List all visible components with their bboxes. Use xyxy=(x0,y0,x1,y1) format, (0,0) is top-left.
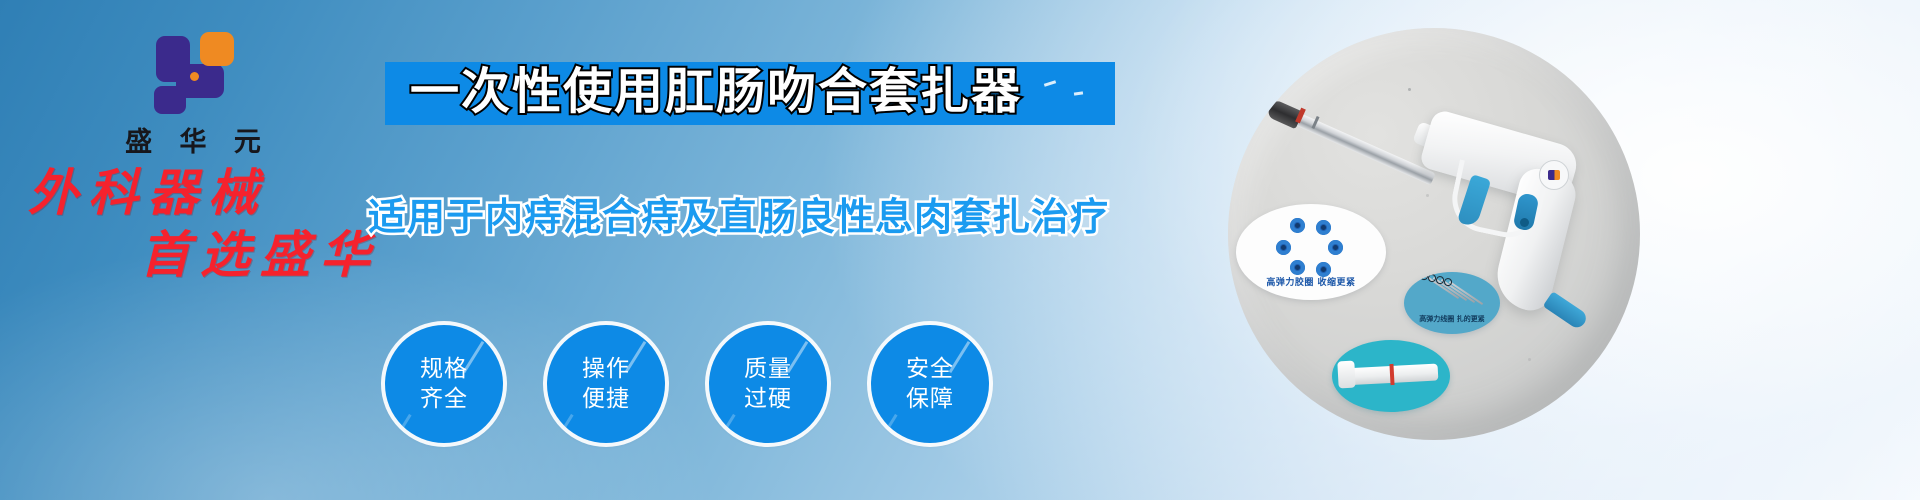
callout-caption-rubber-bands: 高弹力胶圈 收缩更紧 xyxy=(1236,275,1386,288)
badge-shine-icon xyxy=(883,414,897,434)
callout-cartridge xyxy=(1332,340,1450,412)
badge-label-line-1: 规格 xyxy=(420,354,468,384)
badge-label-line-2: 齐全 xyxy=(420,384,468,414)
page-subtitle: 适用于内痔混合痔及直肠良性息肉套扎治疗 xyxy=(368,186,1128,241)
callout-ligation-loops: 高弹力线圈 扎的更紧 xyxy=(1404,272,1500,334)
product-brand-sticker-icon xyxy=(1539,160,1569,190)
feature-badge-quality[interactable]: 质量 过硬 xyxy=(709,325,827,443)
badge-shine-icon xyxy=(397,414,411,434)
feature-badge-safety[interactable]: 安全 保障 xyxy=(871,325,989,443)
page-title: 一次性使用肛肠吻合套扎器 xyxy=(410,56,1110,128)
badge-label-line-2: 保障 xyxy=(906,384,954,414)
badge-label-line-2: 过硬 xyxy=(744,384,792,414)
badge-shine-icon xyxy=(721,414,735,434)
rubber-band-cluster-icon xyxy=(1274,218,1344,272)
brand-slogan: 外科器械 首选盛华 xyxy=(0,168,430,280)
badge-shine-icon xyxy=(559,414,573,434)
callout-rubber-bands: 高弹力胶圈 收缩更紧 xyxy=(1236,204,1386,300)
cartridge-head-icon xyxy=(1337,361,1355,389)
badge-label-line-2: 便捷 xyxy=(582,384,630,414)
product-slider-dot xyxy=(1520,218,1529,227)
brand-name: 盛 华 元 xyxy=(88,120,298,159)
product-photo: 高弹力胶圈 收缩更紧 高弹力线圈 扎的更紧 xyxy=(1228,28,1640,440)
feature-badge-operation[interactable]: 操作 便捷 xyxy=(547,325,665,443)
feature-badge-list: 规格 齐全 操作 便捷 质量 过硬 安全 保障 xyxy=(385,325,989,443)
sparkle-icon xyxy=(1012,70,1015,73)
badge-label-line-1: 质量 xyxy=(744,354,792,384)
badge-label-line-1: 安全 xyxy=(906,354,954,384)
slogan-line-1: 外科器械 xyxy=(0,168,430,218)
slogan-line-2: 首选盛华 xyxy=(0,230,430,280)
product-nozzle xyxy=(1543,291,1590,331)
callout-caption-ligation-loops: 高弹力线圈 扎的更紧 xyxy=(1404,314,1500,324)
badge-label-line-1: 操作 xyxy=(582,354,630,384)
feature-badge-specification[interactable]: 规格 齐全 xyxy=(385,325,503,443)
brand-logo[interactable]: 盛 华 元 xyxy=(88,28,298,159)
promo-banner: 盛 华 元 外科器械 首选盛华 一次性使用肛肠吻合套扎器 适用于内痔混合痔及直肠… xyxy=(0,0,1920,500)
logo-mark-icon xyxy=(146,28,240,114)
